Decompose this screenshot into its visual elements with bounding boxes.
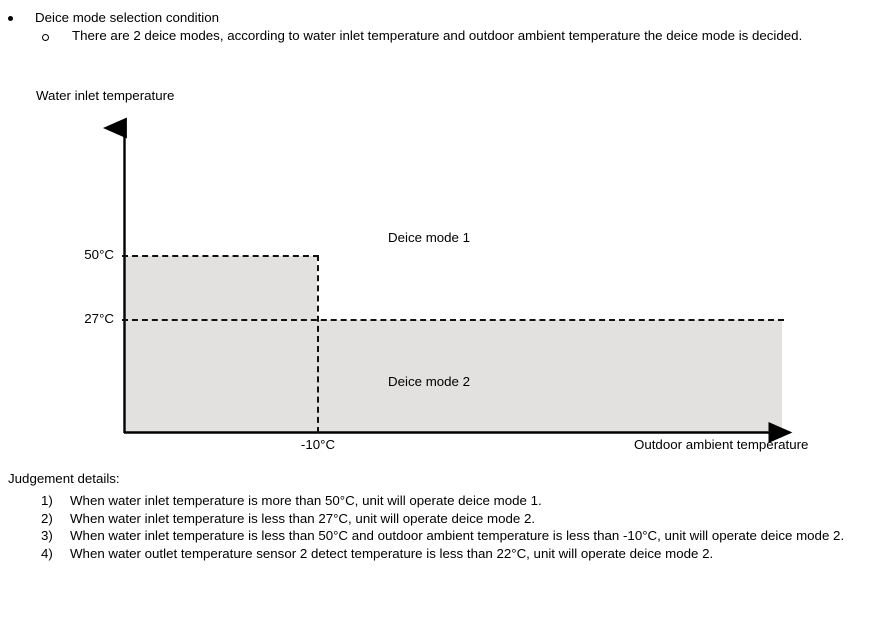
intro-level1-text: Deice mode selection condition (35, 9, 219, 26)
x-axis-title: Outdoor ambient temperature (634, 437, 808, 452)
judgement-item-number: 1) (41, 492, 53, 510)
judgement-item: 3) When water inlet temperature is less … (0, 527, 896, 545)
judgement-item-text: When water inlet temperature is more tha… (70, 492, 896, 510)
judgement-item-number: 3) (41, 527, 53, 545)
annotation-deice-mode-1: Deice mode 1 (388, 230, 470, 245)
region-deice-mode-2-left (125, 256, 317, 433)
judgement-item: 4) When water outlet temperature sensor … (0, 545, 896, 563)
intro-level2-text: There are 2 deice modes, according to wa… (72, 27, 802, 44)
judgement-item-text: When water outlet temperature sensor 2 d… (70, 545, 896, 563)
dashed-line-minus10c (317, 255, 319, 433)
y-axis-title: Water inlet temperature (36, 88, 174, 103)
intro-bullet-level2: There are 2 deice modes, according to wa… (42, 27, 872, 44)
judgement-item-number: 2) (41, 510, 53, 528)
judgement-item-text: When water inlet temperature is less tha… (70, 510, 896, 528)
annotation-deice-mode-2: Deice mode 2 (388, 374, 470, 389)
judgement-item-number: 4) (41, 545, 53, 563)
y-tick-label-27c: 27°C (48, 311, 114, 326)
judgement-item: 1) When water inlet temperature is more … (0, 492, 896, 510)
region-deice-mode-2-right (317, 320, 782, 433)
dashed-line-27c (122, 319, 784, 321)
dashed-line-50c (122, 255, 319, 257)
judgement-list: 1) When water inlet temperature is more … (0, 492, 896, 562)
intro-bullet-level1: Deice mode selection condition (8, 9, 219, 26)
filled-disc-icon (8, 16, 13, 21)
judgement-item: 2) When water inlet temperature is less … (0, 510, 896, 528)
x-tick-label-minus10c: -10°C (284, 437, 352, 452)
y-tick-label-50c: 50°C (48, 247, 114, 262)
judgement-heading: Judgement details: (8, 470, 120, 488)
hollow-circle-icon (42, 34, 49, 41)
judgement-item-text: When water inlet temperature is less tha… (70, 527, 896, 545)
